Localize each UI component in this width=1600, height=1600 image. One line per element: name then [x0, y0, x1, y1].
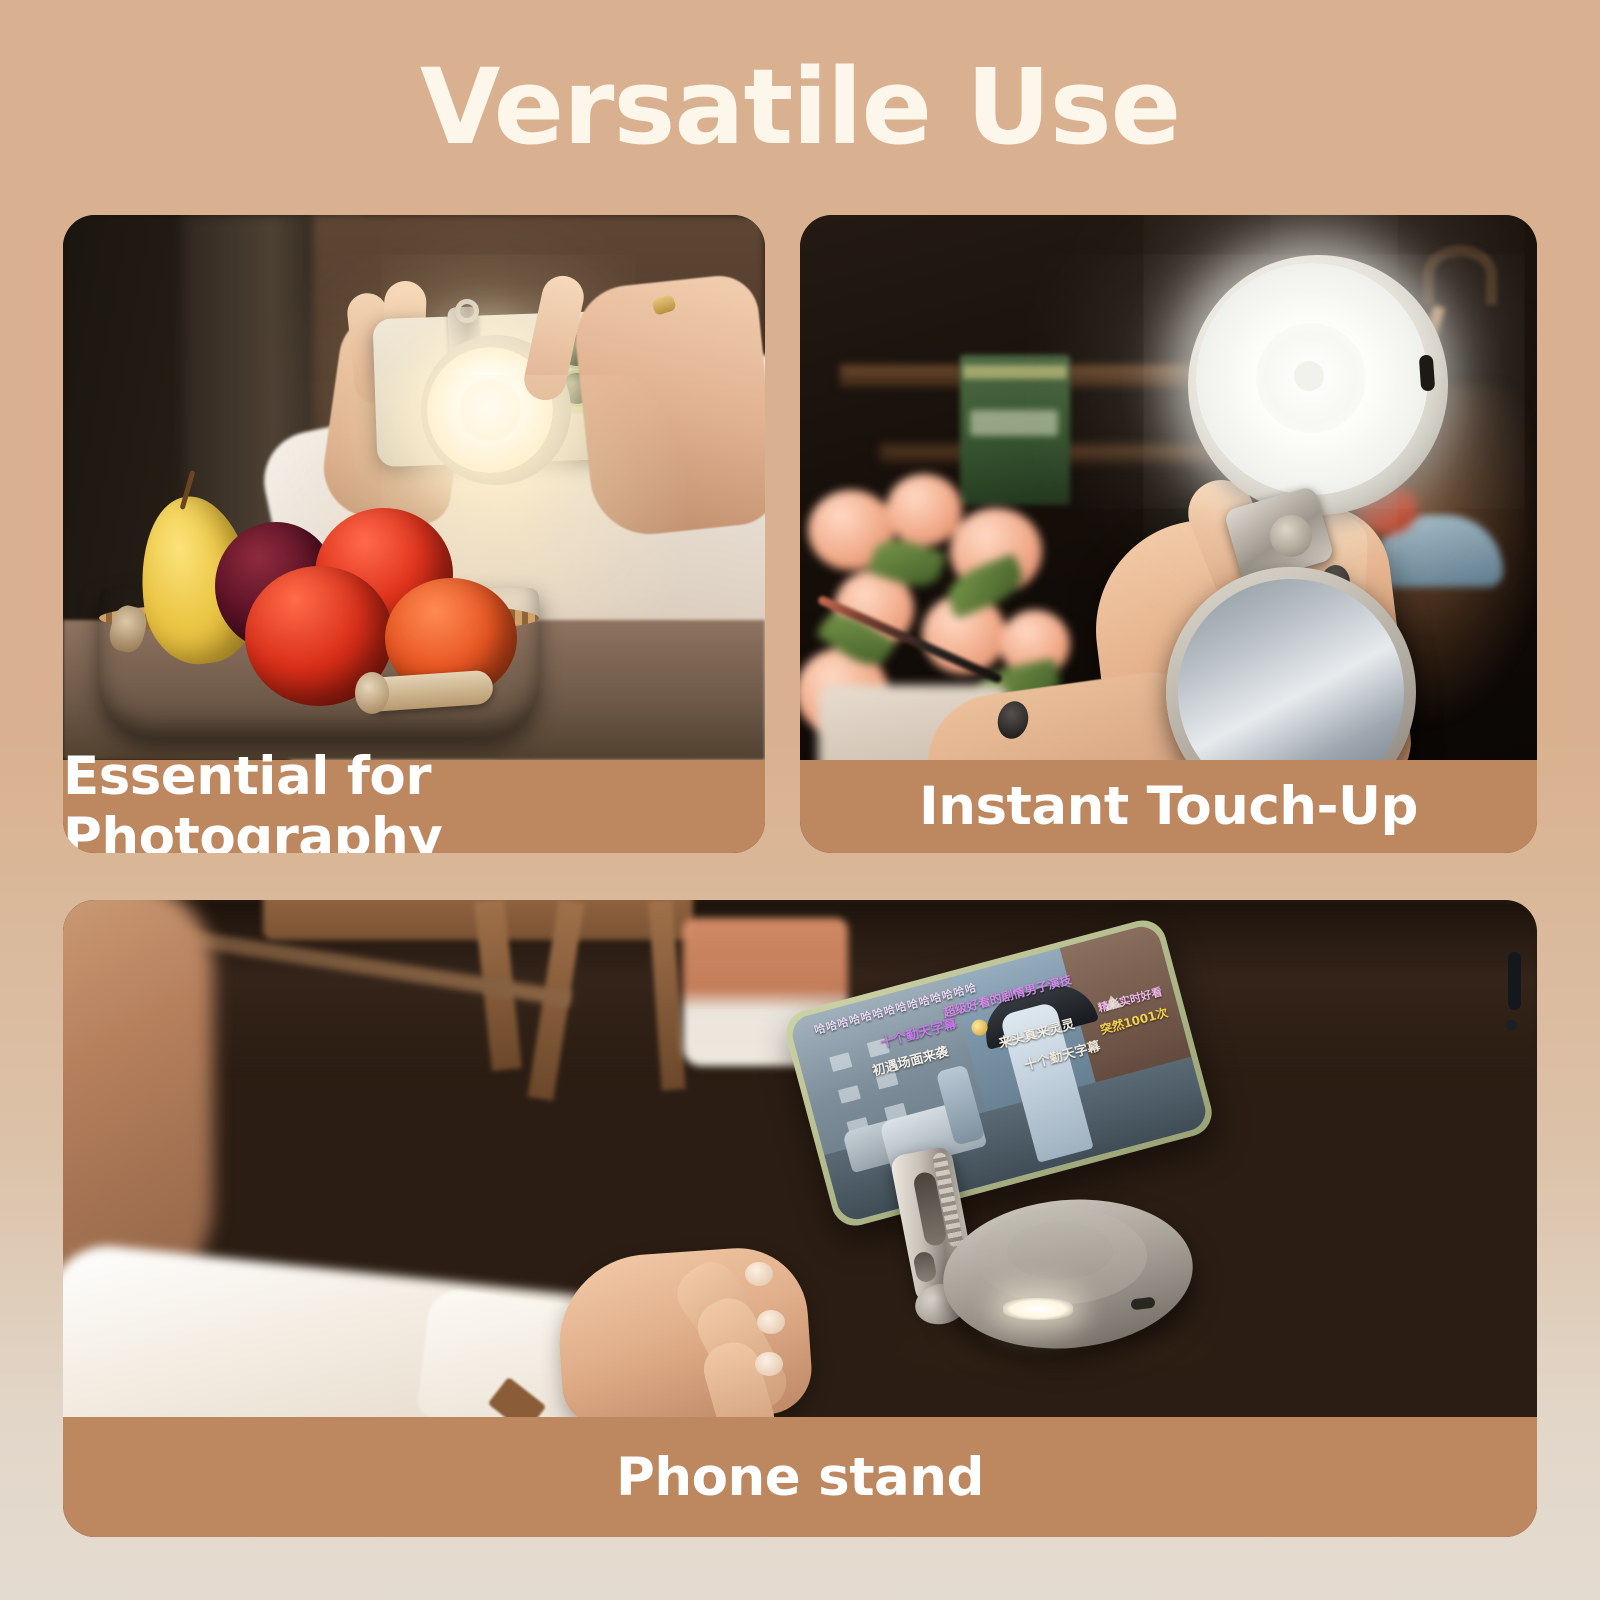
hinge-pin	[1270, 515, 1312, 557]
card-touch-up[interactable]: Instant Touch-Up	[800, 215, 1537, 853]
video-window-3	[838, 1085, 861, 1104]
led-light-inner-ring	[459, 379, 521, 441]
caption-phone-stand: Phone stand	[63, 1417, 1537, 1537]
page-title: Versatile Use	[0, 46, 1600, 169]
decor-hook	[1423, 245, 1497, 305]
stand-puck-inner	[1007, 1222, 1113, 1280]
photo-photography	[63, 215, 765, 760]
usb-c-port-icon	[1419, 355, 1435, 392]
fingernail-1	[745, 1262, 773, 1286]
video-window-1	[829, 1052, 852, 1071]
basket-handle-pin	[355, 672, 389, 714]
green-box-top	[963, 365, 1067, 379]
stand-edge-light	[1003, 1298, 1073, 1320]
green-box-label	[970, 410, 1058, 436]
caption-phone-stand-label: Phone stand	[616, 1447, 984, 1508]
caption-photography-label: Essential for Photography	[63, 746, 765, 854]
led-center-dot	[1294, 361, 1324, 391]
photo-phone-stand: 哈哈哈哈哈哈哈哈哈哈哈哈哈哈 十个勤天字幕 超级好看的剧情男子演技 初遇场面来袭…	[63, 900, 1537, 1417]
rose-2	[886, 474, 962, 546]
fingernail-2	[757, 1310, 785, 1334]
photo-touch-up	[800, 215, 1537, 760]
phone-camera-dot	[1506, 1020, 1517, 1031]
phone-side-button	[1508, 952, 1521, 1010]
caption-touch-up-label: Instant Touch-Up	[919, 776, 1418, 837]
caption-touch-up: Instant Touch-Up	[800, 760, 1537, 853]
card-photography[interactable]: Essential for Photography	[63, 215, 765, 853]
card-phone-stand[interactable]: 哈哈哈哈哈哈哈哈哈哈哈哈哈哈 十个勤天字幕 超级好看的剧情男子演技 初遇场面来袭…	[63, 900, 1537, 1537]
caption-photography: Essential for Photography	[63, 760, 765, 853]
fingernail-3	[755, 1352, 783, 1376]
